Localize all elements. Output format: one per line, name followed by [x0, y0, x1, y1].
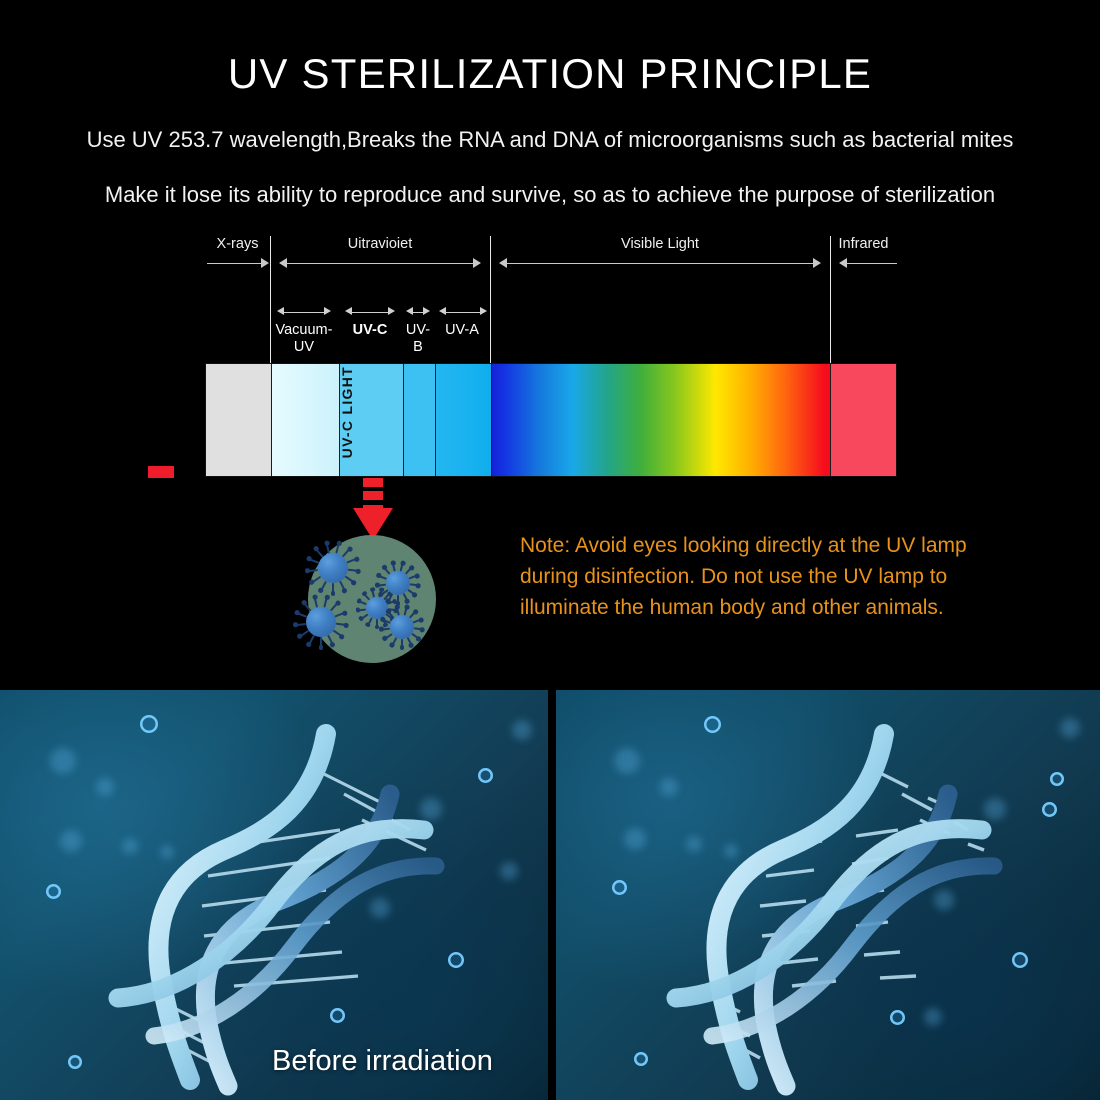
band-arrow-visible [507, 263, 813, 264]
comparison-panels: Before irradiation [0, 690, 1100, 1100]
bokeh-dot [934, 890, 954, 910]
virus-spike [300, 630, 309, 637]
band-label-ultraviolet: Uitravioiet [270, 236, 490, 252]
bokeh-dot [46, 884, 61, 899]
virus-spike [382, 628, 390, 631]
bokeh-dot [1012, 952, 1028, 968]
virus-spike [392, 564, 395, 572]
virus-particle-icon [386, 571, 410, 595]
subband-arrowhead-vacuum-right [324, 307, 331, 315]
bokeh-dot [478, 768, 493, 783]
subband-arrowhead-uva-right [480, 307, 487, 315]
bokeh-dot [370, 898, 390, 918]
virus-spike [400, 564, 403, 572]
virus-spike [378, 584, 386, 587]
subband-arrowhead-uvb-left [406, 307, 413, 315]
dna-helix-intact [58, 698, 488, 1098]
electromagnetic-spectrum-diagram: X-rays Uitravioiet Visible Light Infrare… [205, 236, 897, 481]
bokeh-dot [1042, 802, 1057, 817]
subband-label-vacuum-uv: Vacuum- UV [270, 322, 338, 356]
virus-spike [409, 575, 417, 579]
virus-spike [407, 589, 414, 595]
subband-arrow-uvb [413, 312, 423, 313]
band-label-visible-light: Visible Light [490, 236, 830, 252]
segment-divider-3 [403, 364, 404, 476]
uvc-red-marker-chip [148, 466, 174, 478]
virus-spike [405, 568, 411, 575]
virus-spike [407, 637, 412, 645]
virus-spike [401, 639, 403, 647]
segment-divider-1 [271, 364, 272, 476]
caption-before-irradiation: Before irradiation [272, 1045, 493, 1078]
bokeh-dot [330, 1008, 345, 1023]
band-label-infrared: Infrared [830, 236, 897, 252]
bokeh-dot [634, 1052, 648, 1066]
spectrum-color-bar [205, 363, 897, 477]
virus-spike [364, 594, 370, 600]
virus-spike [414, 628, 422, 631]
bokeh-dot [448, 952, 464, 968]
band-arrowhead-uv-left [279, 258, 287, 268]
safety-note-text: Note: Avoid eyes looking directly at the… [520, 530, 1000, 623]
bokeh-dot [614, 748, 640, 774]
band-arrowhead-visible-right [813, 258, 821, 268]
virus-spike [413, 619, 421, 623]
arrow-segment-1 [363, 478, 383, 487]
virus-spike [397, 595, 399, 603]
virus-spike [320, 637, 322, 647]
bokeh-dot [122, 838, 138, 854]
band-label-xrays: X-rays [205, 236, 270, 252]
segment-divider-6 [830, 364, 831, 476]
bokeh-dot [1050, 772, 1064, 786]
subtitle-line-2: Make it lose its ability to reproduce an… [0, 182, 1100, 208]
virus-spike [312, 576, 321, 583]
subband-arrow-vacuum [284, 312, 324, 313]
dna-helix-damaged [616, 698, 1046, 1098]
bokeh-dot [924, 1008, 942, 1026]
spectrum-segment-uvb [403, 364, 435, 476]
subband-arrowhead-uvb-right [423, 307, 430, 315]
uv-subband-row: Vacuum- UV UV-C UV- B UV-A [205, 298, 897, 360]
subband-arrow-uvc [352, 312, 388, 313]
bokeh-dot [500, 862, 518, 880]
virus-spike [392, 637, 397, 645]
virus-spike [316, 549, 324, 557]
bokeh-dot [704, 716, 721, 733]
virus-spike [336, 623, 346, 626]
band-arrowhead-uv-right [473, 258, 481, 268]
band-arrowhead-xrays-right [261, 258, 269, 268]
spectrum-top-bands: X-rays Uitravioiet Visible Light Infrare… [205, 236, 897, 274]
uv-sterilization-infographic: UV STERILIZATION PRINCIPLE Use UV 253.7 … [0, 0, 1100, 1100]
virus-spike [403, 593, 408, 601]
spectrum-segment-vacuum-uv [271, 364, 339, 476]
bokeh-dot [68, 1055, 82, 1069]
virus-spike [404, 608, 407, 616]
page-title: UV STERILIZATION PRINCIPLE [0, 50, 1100, 98]
virus-spike [411, 633, 418, 639]
virus-particle-icon [318, 553, 348, 583]
bokeh-dot [512, 720, 532, 740]
panel-after-irradiation: After irradiation [556, 690, 1100, 1100]
bokeh-dot [1060, 718, 1080, 738]
spectrum-segment-uva [435, 364, 491, 476]
segment-divider-4 [435, 364, 436, 476]
virus-spike [304, 603, 312, 611]
bokeh-dot [724, 844, 738, 858]
virus-spike [321, 581, 327, 590]
spectrum-segment-visible [491, 364, 831, 476]
virus-particle-icon [390, 615, 414, 639]
subband-arrowhead-uva-left [439, 307, 446, 315]
bokeh-dot [50, 748, 76, 774]
virus-particle-icon [306, 607, 336, 637]
virus-spike [379, 575, 387, 579]
virus-spike [368, 617, 373, 624]
subtitle-line-1: Use UV 253.7 wavelength,Breaks the RNA a… [0, 127, 1100, 153]
virus-spike [333, 630, 342, 637]
microorganism-circle-illustration [308, 535, 436, 663]
virus-spike [335, 612, 345, 617]
virus-spike [396, 608, 399, 616]
spectrum-segment-xray [206, 364, 271, 476]
virus-spike [314, 598, 318, 608]
spectrum-segment-infrared [831, 364, 897, 476]
band-arrow-uv [287, 263, 473, 264]
virus-spike [372, 590, 375, 597]
virus-spike [324, 598, 328, 608]
bokeh-dot [420, 798, 442, 820]
bokeh-dot [96, 778, 114, 796]
virus-spike [336, 544, 340, 554]
virus-spike [330, 603, 338, 611]
virus-spike [327, 635, 333, 644]
band-arrow-infrared [847, 263, 897, 264]
bokeh-dot [984, 798, 1006, 820]
virus-spike [360, 601, 367, 605]
panel-before-irradiation: Before irradiation [0, 690, 548, 1100]
virus-spike [296, 623, 306, 626]
virus-spike [376, 619, 378, 626]
subband-label-uva: UV-A [434, 322, 490, 339]
bokeh-dot [890, 1010, 905, 1025]
bokeh-dot [660, 778, 678, 796]
subband-arrowhead-uvc-right [388, 307, 395, 315]
virus-spike [384, 568, 390, 575]
virus-spike [310, 558, 320, 563]
virus-spike [309, 635, 315, 644]
virus-spike [347, 558, 357, 563]
bokeh-dot [60, 830, 82, 852]
segment-divider-5 [491, 364, 492, 476]
subband-arrow-uva [446, 312, 480, 313]
virus-spike [345, 576, 354, 583]
uvc-beam-arrow-icon [353, 478, 393, 540]
virus-spike [308, 569, 318, 572]
subband-label-uvc: UV-C [338, 322, 402, 339]
band-arrow-xrays [207, 263, 263, 264]
band-arrowhead-infrared-left [839, 258, 847, 268]
bokeh-dot [612, 880, 627, 895]
virus-spike [362, 614, 369, 619]
virus-spike [348, 569, 358, 572]
bokeh-dot [686, 836, 702, 852]
bokeh-dot [160, 845, 174, 859]
virus-spike [385, 633, 392, 639]
subband-arrowhead-vacuum-left [277, 307, 284, 315]
virus-spike [409, 612, 415, 619]
band-arrowhead-visible-left [499, 258, 507, 268]
bokeh-dot [140, 715, 158, 733]
subband-label-uvb: UV- B [402, 322, 434, 356]
virus-spike [298, 612, 308, 617]
arrow-segment-2 [363, 491, 383, 500]
bokeh-dot [624, 828, 646, 850]
uvc-light-vertical-label: UV-C LIGHT [339, 366, 355, 458]
virus-spike [359, 608, 366, 611]
virus-spike [326, 544, 330, 554]
virus-spike [339, 581, 345, 590]
subband-arrowhead-uvc-left [345, 307, 352, 315]
virus-spike [410, 584, 418, 587]
virus-spike [332, 583, 334, 593]
virus-spike [342, 549, 350, 557]
